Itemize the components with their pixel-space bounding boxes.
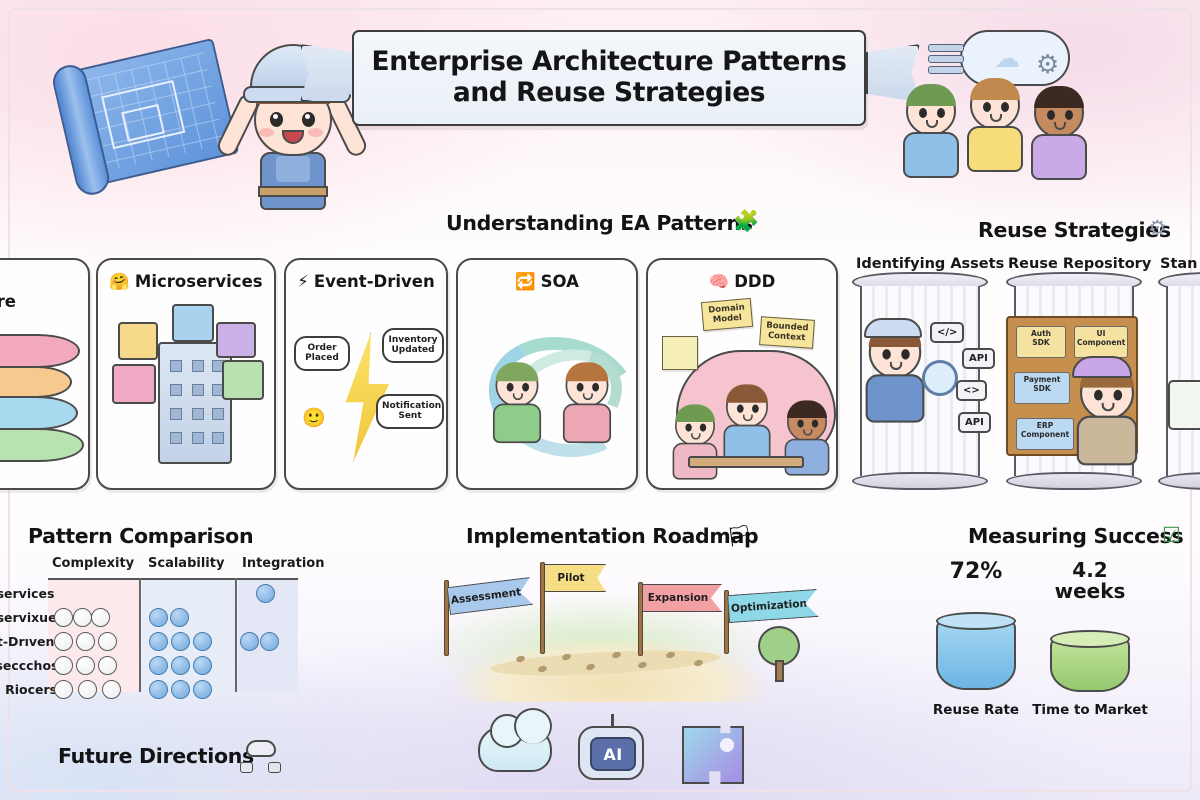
rating-dot [98, 632, 117, 651]
event-bubble: Order Placed [294, 336, 350, 371]
cake-layer [0, 334, 80, 368]
table-surface [688, 456, 804, 468]
page-title-line1: Enterprise Architecture Patterns [372, 46, 847, 77]
cake-layer [0, 428, 84, 462]
puzzle-piece-icon [682, 726, 744, 784]
rating-dot [54, 632, 73, 651]
pattern-card-soa[interactable]: 🔁SOA [456, 258, 638, 490]
flag-icon: 🏳 [726, 524, 753, 549]
rating-dot [73, 608, 92, 627]
cloud-network-icon [240, 740, 282, 774]
rating-dot [78, 680, 97, 699]
pattern-card-ddd[interactable]: 🧠DDD Domain Model Bounded Context [646, 258, 838, 490]
section-title-future: Future Directions [58, 744, 254, 768]
pattern-card-label: ered ecture [0, 272, 82, 312]
title-banner: Enterprise Architecture Patterns and Reu… [352, 30, 866, 126]
service-block [216, 322, 256, 358]
column-header: Integration [242, 556, 324, 571]
sticky-note [662, 336, 698, 370]
comparison-table: Complexity Scalability Integration oserv… [0, 556, 298, 696]
page-title-line2: and Reuse Strategies [372, 78, 847, 109]
building-icon [158, 342, 232, 464]
helmet-icon [1072, 356, 1132, 378]
cake-layer [0, 366, 72, 398]
shelf-item: Payment SDK [1014, 372, 1070, 404]
flag-label: Pilot [544, 564, 606, 592]
rating-dot [256, 584, 275, 603]
section-title-patterns: Understanding EA Patterns [446, 211, 753, 235]
magnifier-icon [922, 360, 958, 396]
puzzle-piece-icon: 🧩 [733, 209, 759, 234]
rating-dot [149, 656, 168, 675]
api-badge: API [958, 412, 991, 433]
hugging-face-icon: 🤗 [109, 272, 130, 291]
flag-label: Expansion [642, 584, 722, 612]
rating-dot [260, 632, 279, 651]
metric-value: 4.2 weeks [1038, 560, 1142, 602]
section-title-measuring: Measuring Success [968, 524, 1183, 548]
gear-icon: ⚙ [1036, 50, 1059, 80]
sticky-note: Bounded Context [759, 316, 815, 349]
section-title-reuse: Reuse Strategies [978, 218, 1171, 242]
rating-dot [102, 680, 121, 699]
section-title-comparison: Pattern Comparison [28, 524, 253, 548]
service-block [118, 322, 158, 360]
code-badge: </> [930, 322, 964, 343]
pillar-title-repository: Reuse Repository [1008, 256, 1151, 272]
shelf-item: ERP Component [1016, 418, 1074, 450]
shelf-item: UI Component [1074, 326, 1128, 358]
shelf-item: Auth SDK [1016, 326, 1066, 358]
roadmap-illustration: Assessment Pilot Expansion Optimization [420, 556, 810, 706]
gear-icon: ⚙ [1148, 216, 1167, 240]
service-block [222, 360, 264, 400]
column-header: Scalability [148, 556, 224, 571]
server-icon [928, 44, 964, 78]
pattern-card-label: ⚡Event-Driven [286, 272, 446, 291]
rating-dot [54, 656, 73, 675]
pattern-card-microservices[interactable]: 🤗Microservices [96, 258, 276, 490]
sticky-note: Domain Model [701, 298, 753, 331]
table-row: el Riocers [0, 682, 57, 697]
event-bubble: Notification Sent [376, 394, 444, 429]
ai-label: AI [590, 737, 636, 771]
pattern-card-label: 🔁SOA [458, 272, 636, 292]
rating-dot [54, 680, 73, 699]
lightning-bolt-icon: ⚡ [297, 272, 309, 291]
cake-layer [0, 396, 78, 430]
table-row: cseccchos [0, 658, 58, 673]
pattern-card-event-driven[interactable]: ⚡Event-Driven Order Placed Inventory Upd… [284, 258, 448, 490]
pattern-card-label: 🤗Microservices [98, 272, 274, 292]
rating-dot [171, 632, 190, 651]
rating-dot [91, 608, 110, 627]
pattern-card-label: 🧠DDD [648, 272, 836, 292]
event-bubble: Inventory Updated [382, 328, 444, 363]
pillar-title-identifying: Identifying Assets [856, 256, 1004, 272]
rating-dot [170, 608, 189, 627]
diamond-badge: <> [956, 380, 987, 401]
rating-dot [171, 656, 190, 675]
api-badge: API [962, 348, 995, 369]
rating-dot [149, 608, 168, 627]
column-header: Complexity [52, 556, 134, 571]
rating-dot [149, 680, 168, 699]
table-row: nt-Drıven [0, 634, 54, 649]
pillar-title-standardization: Stan [1160, 256, 1200, 272]
cloud-icon: ☁ [994, 44, 1020, 74]
table-row: oservices [0, 586, 54, 601]
metric-label: Time to Market [1022, 702, 1158, 718]
helmet-icon [864, 318, 922, 338]
rating-dot [171, 680, 190, 699]
service-block [172, 304, 214, 342]
pattern-card-layered[interactable]: ered ecture [0, 258, 90, 490]
rating-dot [193, 680, 212, 699]
metric-value: 72% [924, 560, 1028, 583]
rating-dot [193, 632, 212, 651]
rating-dot [76, 656, 95, 675]
smiley-icon: 🙂 [302, 406, 326, 429]
brain-icon: 🧠 [709, 272, 730, 291]
exchange-arrows-icon: 🔁 [515, 272, 536, 291]
rating-dot [98, 656, 117, 675]
ai-robot-icon: AI [578, 726, 644, 780]
rating-dot [240, 632, 259, 651]
check-box-icon: ☑ [1162, 523, 1181, 547]
infographic-canvas: Enterprise Architecture Patterns and Reu… [0, 0, 1200, 800]
checklist-icon [1168, 380, 1200, 430]
section-title-roadmap: Implementation Roadmap [466, 524, 758, 548]
rating-dot [149, 632, 168, 651]
rating-dot [54, 608, 73, 627]
cloud-icon [478, 726, 552, 772]
service-block [112, 364, 156, 404]
rating-dot [76, 632, 95, 651]
rating-dot [193, 656, 212, 675]
